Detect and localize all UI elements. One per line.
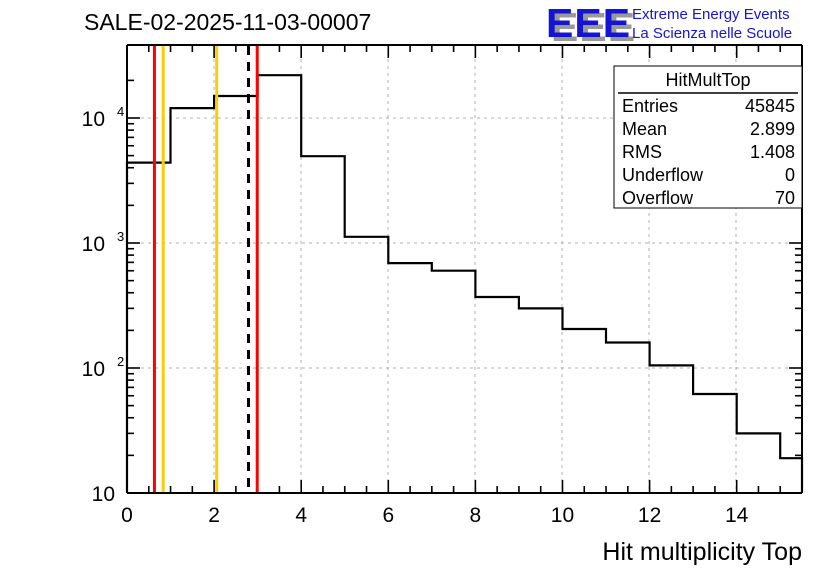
stats-box[interactable]: HitMultTop Entries45845Mean2.899RMS1.408… <box>614 66 802 208</box>
eee-logo-line2: La Scienza nelle Scuole <box>632 25 792 42</box>
svg-text:2: 2 <box>117 354 124 369</box>
stats-row-value: 70 <box>775 188 795 208</box>
svg-text:10: 10 <box>92 483 115 506</box>
svg-text:4: 4 <box>117 104 124 119</box>
svg-text:3: 3 <box>117 229 124 244</box>
x-tick-label: 4 <box>295 504 307 527</box>
x-tick-label: 6 <box>382 504 394 527</box>
stats-row-value: 1.408 <box>750 142 795 162</box>
stats-row-label: Underflow <box>622 165 704 185</box>
svg-text:10: 10 <box>82 233 105 256</box>
stats-row-label: Mean <box>622 119 667 139</box>
stats-row-value: 0 <box>785 165 795 185</box>
histogram-canvas[interactable]: SALE-02-2025-11-03-00007 EEE EEE Extreme… <box>0 0 836 572</box>
x-tick-label: 2 <box>208 504 220 527</box>
stats-row-label: Entries <box>622 96 678 116</box>
x-tick-label: 10 <box>551 504 574 527</box>
stats-row-value: 45845 <box>745 96 795 116</box>
svg-text:10: 10 <box>82 358 105 381</box>
stats-row-value: 2.899 <box>750 119 795 139</box>
x-tick-label: 8 <box>470 504 482 527</box>
svg-text:10: 10 <box>82 108 105 131</box>
root-canvas: SALE-02-2025-11-03-00007 EEE EEE Extreme… <box>0 0 836 572</box>
x-tick-label: 14 <box>725 504 749 527</box>
x-axis-title: Hit multiplicity Top <box>602 538 802 566</box>
stats-row-label: Overflow <box>622 188 694 208</box>
eee-logo-line1: Extreme Energy Events <box>632 6 790 23</box>
stats-box-title: HitMultTop <box>665 70 750 90</box>
stats-row-label: RMS <box>622 142 662 162</box>
x-tick-label: 0 <box>121 504 133 527</box>
x-tick-label: 12 <box>638 504 661 527</box>
eee-logo-mark: EEE <box>546 0 631 46</box>
y-tick-label: 10 <box>92 483 115 506</box>
page-title: SALE-02-2025-11-03-00007 <box>84 9 371 35</box>
